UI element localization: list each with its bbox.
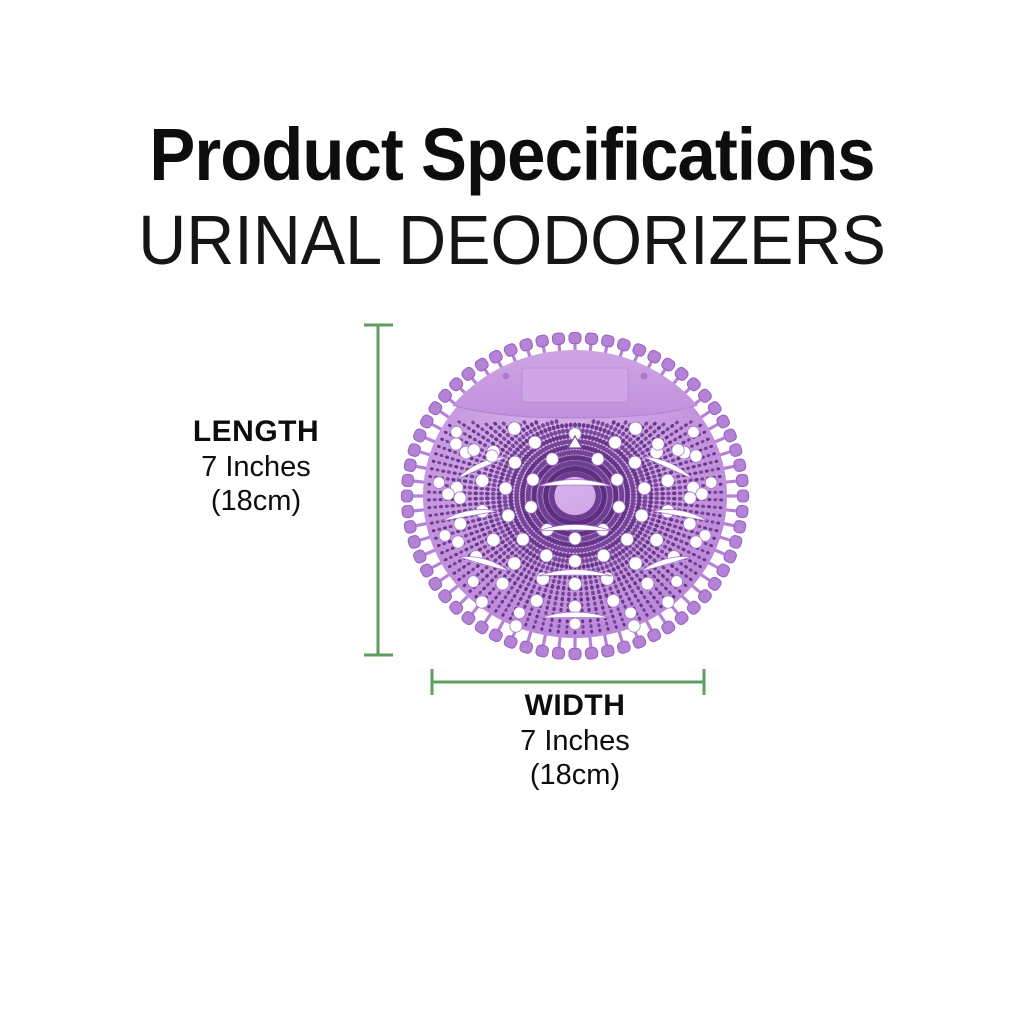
heading-block: Product Specifications URINAL DEODORIZER… xyxy=(0,115,1024,279)
width-label-value: 7 Inches xyxy=(455,724,695,758)
product-image-urinal-screen xyxy=(396,326,754,666)
width-dimension-label: WIDTH 7 Inches (18cm) xyxy=(455,688,695,792)
length-label-value: 7 Inches xyxy=(136,450,376,484)
top-label-plate xyxy=(448,344,702,418)
length-guide-icon xyxy=(360,318,396,662)
length-label-title: LENGTH xyxy=(136,414,376,450)
label-window xyxy=(522,368,628,402)
width-measurement-line xyxy=(424,666,712,698)
length-measurement-line xyxy=(360,318,396,662)
page-subtitle: URINAL DEODORIZERS xyxy=(26,201,999,279)
length-label-metric: (18cm) xyxy=(136,484,376,518)
width-label-metric: (18cm) xyxy=(455,758,695,792)
width-guide-icon xyxy=(424,666,712,698)
length-dimension-label: LENGTH 7 Inches (18cm) xyxy=(136,414,376,518)
product-specification-page: Product Specifications URINAL DEODORIZER… xyxy=(0,0,1024,1024)
urinal-screen-illustration xyxy=(396,326,754,666)
page-title: Product Specifications xyxy=(36,115,988,195)
